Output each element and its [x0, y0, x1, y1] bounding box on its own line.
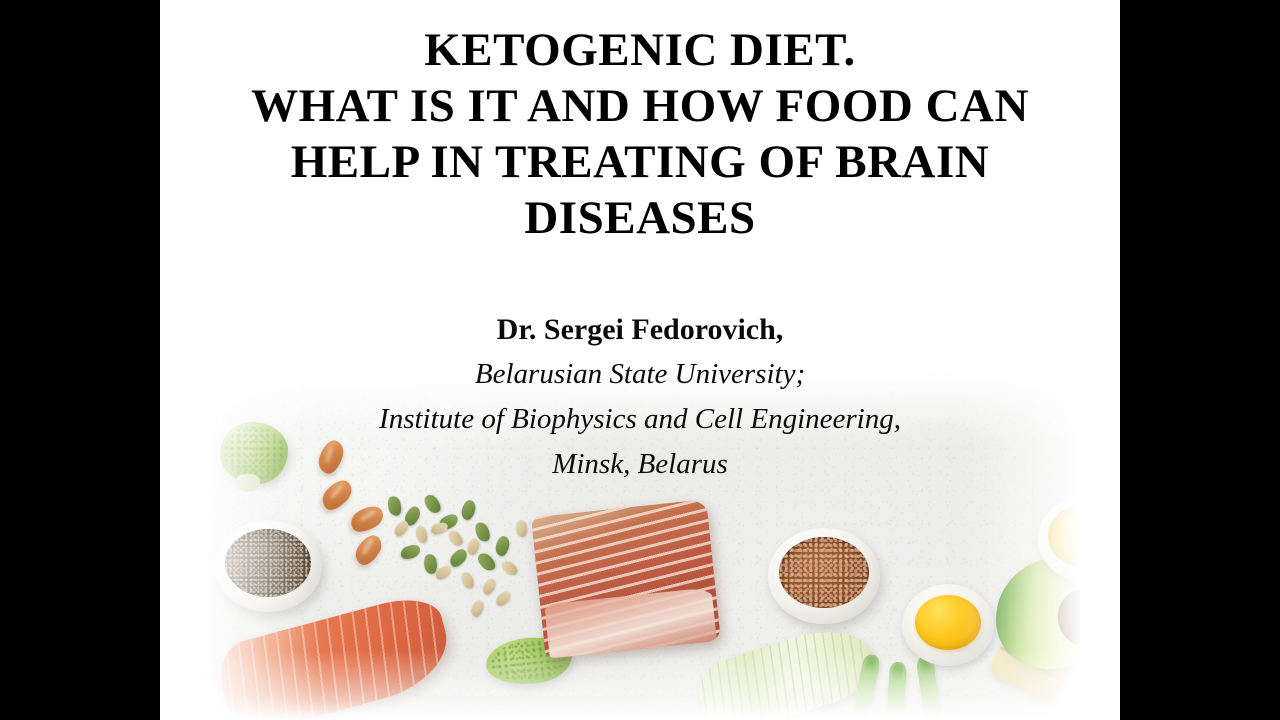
video-frame: KETOGENIC DIET. WHAT IS IT AND HOW FOOD …	[0, 0, 1280, 720]
affiliation-line-2: Institute of Biophysics and Cell Enginee…	[160, 397, 1120, 442]
title-line-2: WHAT IS IT AND HOW FOOD CAN	[160, 78, 1120, 134]
chia-seeds	[225, 529, 311, 597]
avocado-pit	[1049, 582, 1082, 655]
author-affiliation-block: Dr. Sergei Fedorovich, Belarusian State …	[160, 308, 1120, 487]
letterbox-bar-right	[1120, 0, 1280, 720]
bacon-slices-icon	[531, 499, 721, 659]
slide-title: KETOGENIC DIET. WHAT IS IT AND HOW FOOD …	[160, 22, 1120, 246]
affiliation-line-1: Belarusian State University;	[160, 352, 1120, 397]
flax-seed-bowl-icon	[768, 528, 880, 624]
affiliation-line-3: Minsk, Belarus	[160, 442, 1120, 487]
egg-yolk	[915, 595, 981, 650]
chia-seed-bowl-icon	[214, 520, 322, 612]
egg-yolk-in-shell-icon	[902, 584, 994, 666]
title-line-3: HELP IN TREATING OF BRAIN	[160, 134, 1120, 190]
title-line-4: DISEASES	[160, 190, 1120, 246]
olive-oil	[1048, 504, 1082, 568]
letterbox-bar-left	[0, 0, 160, 720]
presentation-slide: KETOGENIC DIET. WHAT IS IT AND HOW FOOD …	[160, 0, 1120, 720]
author-name: Dr. Sergei Fedorovich,	[160, 308, 1120, 352]
flax-seeds	[779, 537, 869, 608]
title-line-1: KETOGENIC DIET.	[160, 22, 1120, 78]
